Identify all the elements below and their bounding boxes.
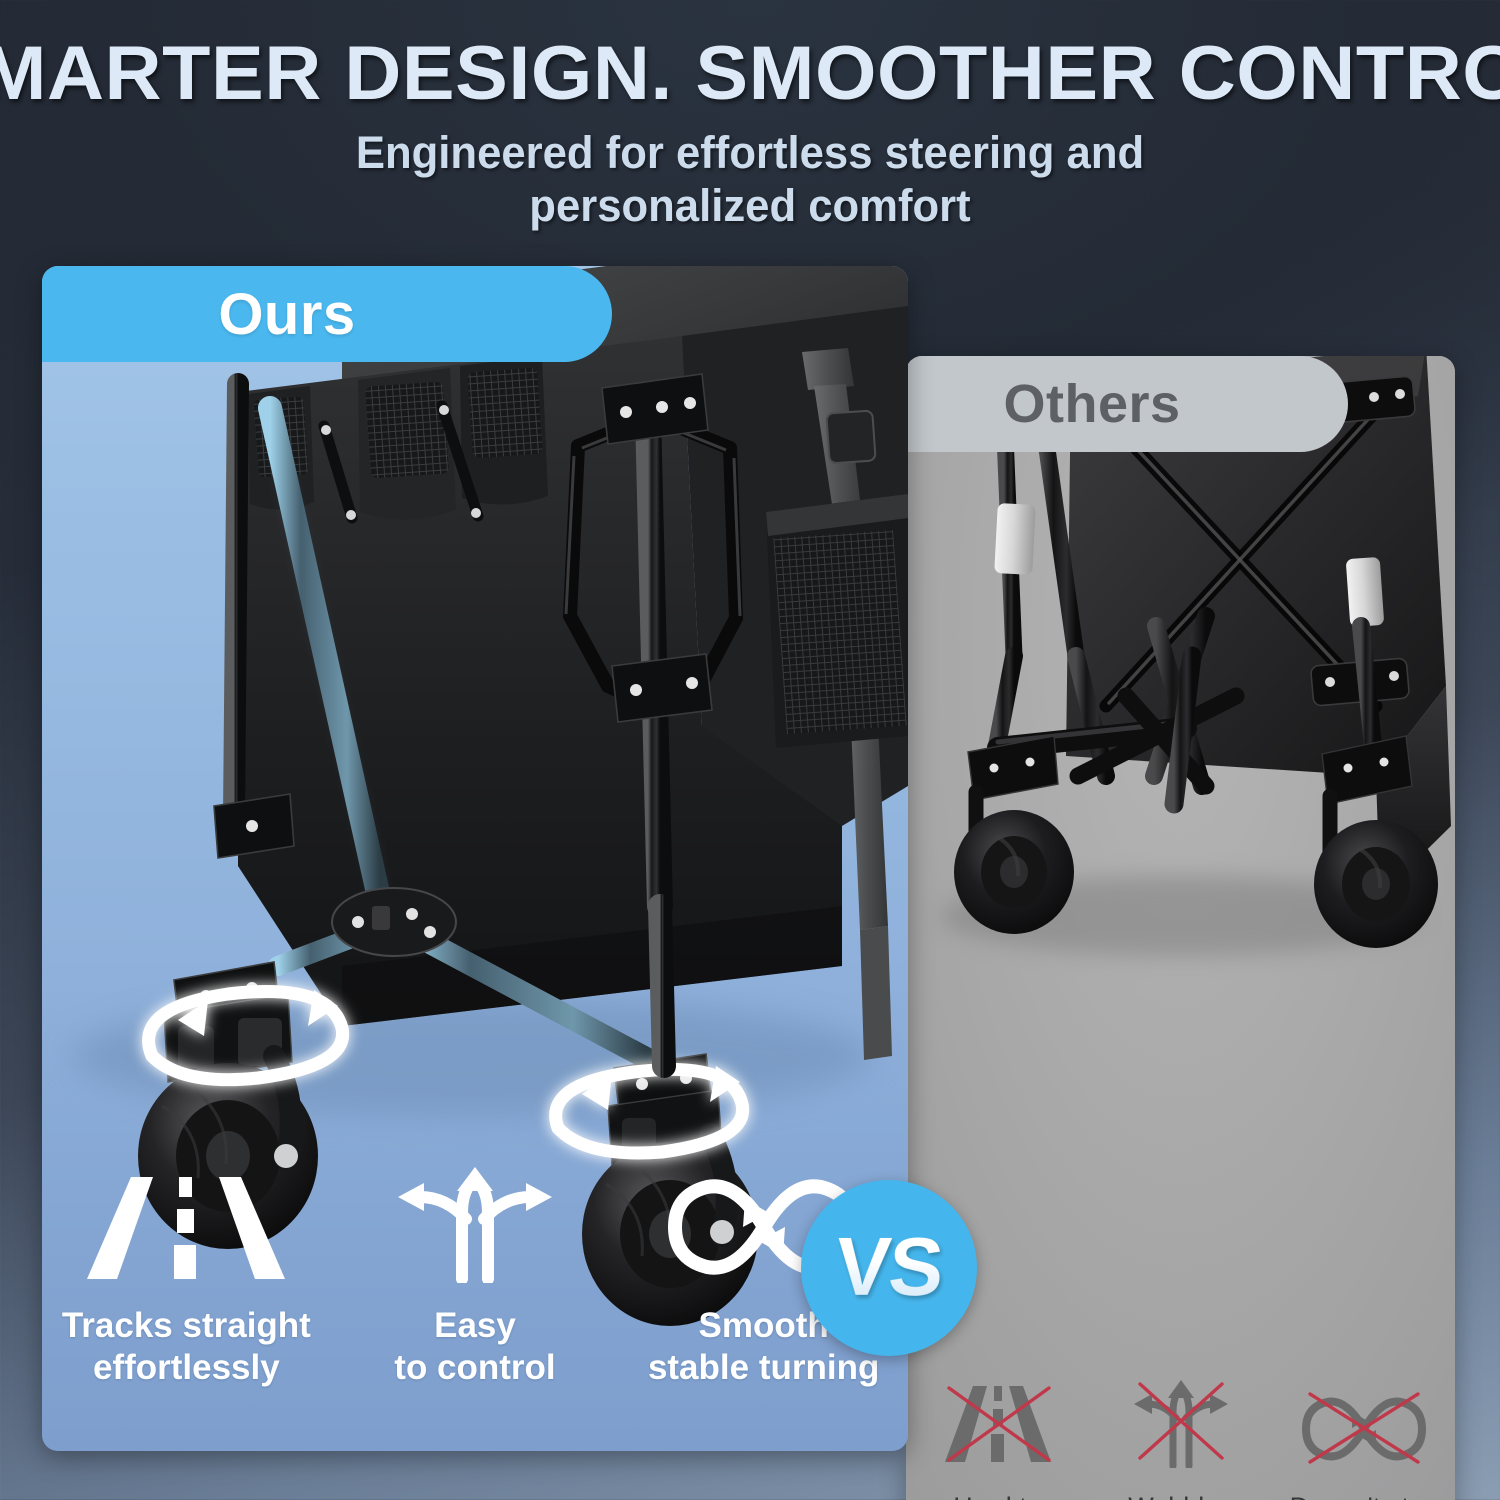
infinity-loop-icon-crossed [1300, 1376, 1428, 1468]
page-subtitle: Engineered for effortless steering and p… [265, 126, 1235, 232]
others-product-illustration [906, 356, 1455, 1500]
others-feature-wobbles: Wobbles side to side [1093, 1376, 1269, 1500]
ours-feature-label: Tracks straight effortlessly [62, 1305, 311, 1389]
page-title: SMARTER DESIGN. SMOOTHER CONTROL [0, 36, 1500, 112]
comparison-panels: Others [0, 266, 1500, 1466]
vs-label: VS [833, 1221, 945, 1315]
others-feature-not-centered: Doesn't stay centered [1276, 1376, 1452, 1500]
ours-badge-label: Ours [218, 281, 355, 348]
three-way-arrow-icon [386, 1165, 564, 1283]
others-feature-label: Hard to steer [953, 1490, 1042, 1500]
ours-badge: Ours [42, 266, 612, 362]
vs-badge: VS [801, 1180, 977, 1356]
ours-feature-list: Tracks straight effortlessly [42, 1165, 908, 1389]
ours-feature-easy-control: Easy to control [340, 1165, 610, 1389]
others-feature-list: Hard to steer [906, 1376, 1455, 1500]
others-badge: Others [906, 356, 1348, 452]
road-straight-icon-crossed [939, 1376, 1057, 1468]
road-straight-icon [79, 1165, 293, 1283]
ours-panel: Ours Tracks straight effort [42, 266, 908, 1451]
header: SMARTER DESIGN. SMOOTHER CONTROL Enginee… [0, 0, 1500, 250]
three-way-arrow-icon-crossed [1126, 1376, 1236, 1468]
others-feature-label: Doesn't stay centered [1290, 1490, 1438, 1500]
others-badge-label: Others [1003, 373, 1180, 435]
ours-feature-label: Easy to control [394, 1305, 555, 1389]
others-feature-label: Wobbles side to side [1112, 1490, 1249, 1500]
others-feature-hard-to-steer: Hard to steer [910, 1376, 1086, 1500]
others-panel: Others [906, 356, 1455, 1500]
ours-feature-tracks-straight: Tracks straight effortlessly [51, 1165, 321, 1389]
